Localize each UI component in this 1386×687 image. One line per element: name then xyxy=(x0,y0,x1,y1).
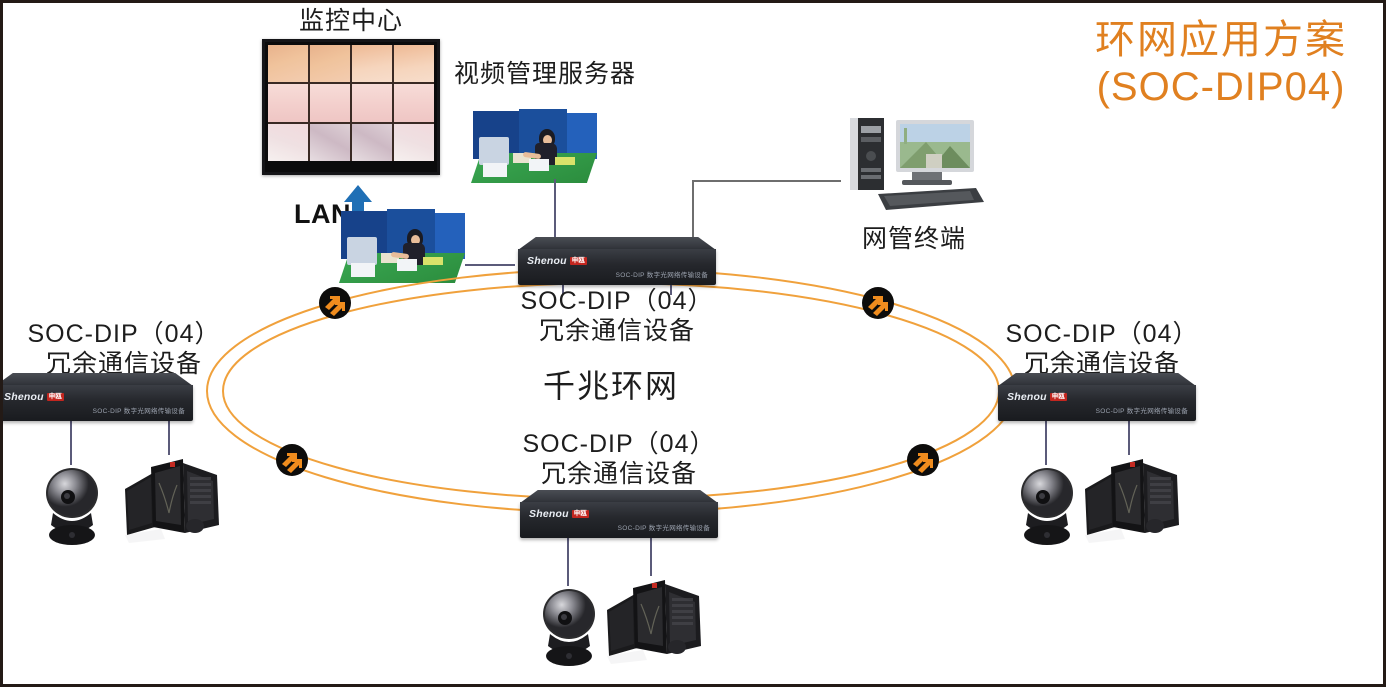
dome-camera-left xyxy=(41,463,103,551)
ring-node-double-arrow-icon[interactable] xyxy=(275,443,309,477)
device-brand-cn: 申瓯 xyxy=(570,257,587,266)
video-management-server-label: 视频管理服务器 xyxy=(430,60,660,90)
device-top-soc-dip-04[interactable]: Shenou 申瓯 SOC-DIP 数字光网络传输设备 xyxy=(518,237,716,285)
workstation-pc-left xyxy=(125,453,221,543)
dome-camera-bottom xyxy=(538,584,600,672)
device-bottom-name: SOC-DIP（04） xyxy=(523,430,716,458)
device-top-label: SOC-DIP（04） 冗余通信设备 xyxy=(518,287,716,346)
monitoring-center-label: 监控中心 xyxy=(251,7,451,37)
workstation-pc-right xyxy=(1085,453,1181,543)
device-brand: Shenou 申瓯 xyxy=(1007,391,1067,403)
video-wall-cell xyxy=(310,45,350,82)
device-brand-text: Shenou xyxy=(529,508,569,520)
video-wall-cell xyxy=(268,45,308,82)
video-wall-cell xyxy=(394,124,434,161)
page-title: 环网应用方案 (SOC-DIP04) xyxy=(1095,17,1347,111)
video-wall-cell xyxy=(310,84,350,121)
device-right-label: SOC-DIP（04） 冗余通信设备 xyxy=(1003,320,1201,379)
device-top-role: 冗余通信设备 xyxy=(518,317,716,347)
network-management-terminal-clipart xyxy=(844,110,984,220)
ring-node-double-arrow-icon[interactable] xyxy=(906,443,940,477)
device-brand-text: Shenou xyxy=(527,255,567,267)
device-front-panel: Shenou 申瓯 SOC-DIP 数字光网络传输设备 xyxy=(518,249,716,285)
device-right-soc-dip-04[interactable]: Shenou 申瓯 SOC-DIP 数字光网络传输设备 xyxy=(998,373,1196,421)
ring-center-label: 千兆环网 xyxy=(511,361,711,407)
network-management-terminal-label: 网管终端 xyxy=(809,225,1019,255)
device-brand: Shenou 申瓯 xyxy=(529,508,589,520)
device-faceplate-text: SOC-DIP 数字光网络传输设备 xyxy=(618,522,710,532)
device-left-name: SOC-DIP（04） xyxy=(28,320,221,348)
device-faceplate-text: SOC-DIP 数字光网络传输设备 xyxy=(616,269,708,279)
device-brand-cn: 申瓯 xyxy=(572,510,589,519)
device-front-panel: Shenou 申瓯 SOC-DIP 数字光网络传输设备 xyxy=(998,385,1196,421)
device-front-panel: Shenou 申瓯 SOC-DIP 数字光网络传输设备 xyxy=(520,502,718,538)
video-wall-cell xyxy=(394,84,434,121)
video-wall-cell xyxy=(352,124,392,161)
video-wall xyxy=(262,39,440,175)
device-top-name: SOC-DIP（04） xyxy=(521,287,714,315)
video-wall-cell xyxy=(394,45,434,82)
device-faceplate-text: SOC-DIP 数字光网络传输设备 xyxy=(93,405,185,415)
device-brand-text: Shenou xyxy=(1007,391,1047,403)
page-title-line1: 环网应用方案 xyxy=(1095,17,1347,64)
video-wall-cell xyxy=(268,124,308,161)
video-wall-cell xyxy=(352,84,392,121)
device-brand: Shenou 申瓯 xyxy=(4,391,64,403)
device-bottom-role: 冗余通信设备 xyxy=(520,460,718,490)
ring-node-double-arrow-icon[interactable] xyxy=(861,286,895,320)
device-brand-cn: 申瓯 xyxy=(47,393,64,402)
device-faceplate-text: SOC-DIP 数字光网络传输设备 xyxy=(1096,405,1188,415)
video-wall-cell xyxy=(268,84,308,121)
device-brand-text: Shenou xyxy=(4,391,44,403)
device-bottom-label: SOC-DIP（04） 冗余通信设备 xyxy=(520,430,718,489)
device-left-label: SOC-DIP（04） 冗余通信设备 xyxy=(25,320,223,379)
diagram-canvas: 环网应用方案 (SOC-DIP04) 监控中心 LAN 视频管理服务器 xyxy=(0,0,1386,687)
device-bottom-soc-dip-04[interactable]: Shenou 申瓯 SOC-DIP 数字光网络传输设备 xyxy=(520,490,718,538)
device-brand: Shenou 申瓯 xyxy=(527,255,587,267)
dome-camera-right xyxy=(1016,463,1078,551)
device-right-name: SOC-DIP（04） xyxy=(1006,320,1199,348)
page-title-line2: (SOC-DIP04) xyxy=(1095,64,1347,111)
lan-client-workstation-clipart xyxy=(339,209,467,291)
video-wall-grid xyxy=(268,45,434,161)
device-brand-cn: 申瓯 xyxy=(1050,393,1067,402)
video-wall-cell xyxy=(310,124,350,161)
video-management-server-clipart xyxy=(471,109,599,191)
workstation-pc-bottom xyxy=(607,574,703,664)
video-wall-cell xyxy=(352,45,392,82)
device-left-soc-dip-04[interactable]: Shenou 申瓯 SOC-DIP 数字光网络传输设备 xyxy=(0,373,193,421)
ring-node-double-arrow-icon[interactable] xyxy=(318,286,352,320)
device-front-panel: Shenou 申瓯 SOC-DIP 数字光网络传输设备 xyxy=(0,385,193,421)
